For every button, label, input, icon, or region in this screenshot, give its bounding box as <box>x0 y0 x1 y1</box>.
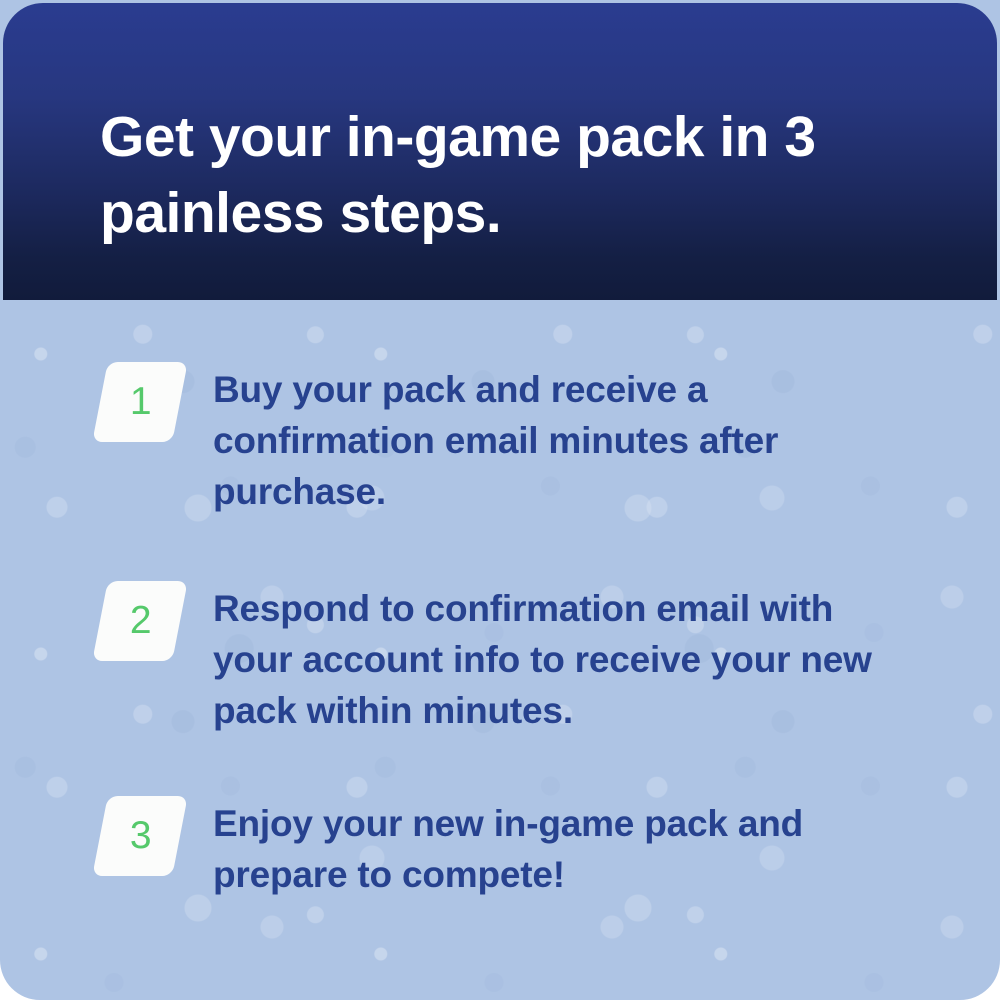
step-description: Enjoy your new in-game pack and prepare … <box>213 796 873 900</box>
step-number-badge: 2 <box>92 581 188 661</box>
step-number-badge: 1 <box>92 362 188 442</box>
list-item: 3 Enjoy your new in-game pack and prepar… <box>100 796 873 900</box>
steps-list: 1 Buy your pack and receive a confirmati… <box>0 300 1000 1000</box>
step-description: Buy your pack and receive a confirmation… <box>213 362 873 517</box>
step-number: 3 <box>128 816 152 857</box>
list-item: 2 Respond to confirmation email with you… <box>100 581 873 736</box>
promo-card: Get your in-game pack in 3 painless step… <box>0 0 1000 1000</box>
step-number: 2 <box>128 601 152 642</box>
list-item: 1 Buy your pack and receive a confirmati… <box>100 362 873 517</box>
page-title: Get your in-game pack in 3 painless step… <box>100 99 900 251</box>
header-banner: Get your in-game pack in 3 painless step… <box>3 3 997 300</box>
step-number: 1 <box>128 382 152 423</box>
step-number-badge: 3 <box>92 796 188 876</box>
step-description: Respond to confirmation email with your … <box>213 581 873 736</box>
